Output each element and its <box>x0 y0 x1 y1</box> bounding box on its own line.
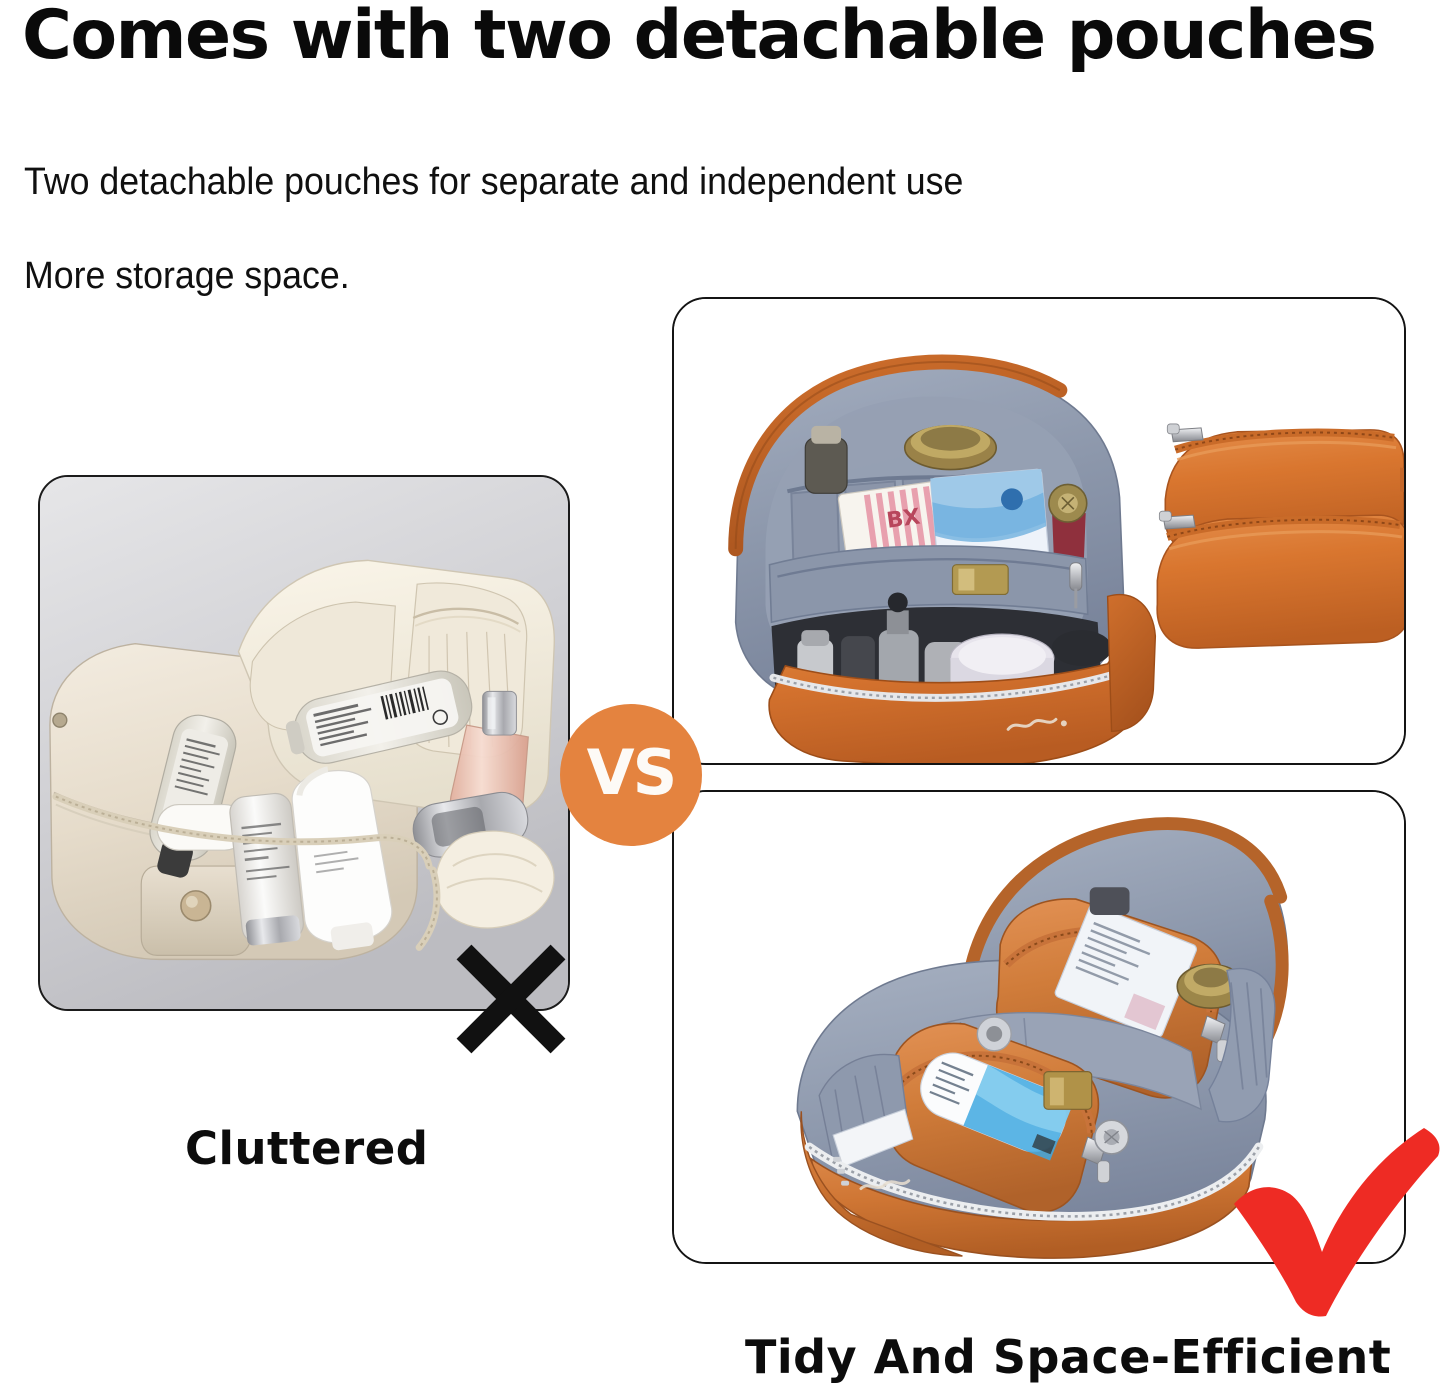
cluttered-bag-illustration <box>40 477 568 1009</box>
subtitle-line-2: More storage space. <box>24 254 350 298</box>
svg-text:BX: BX <box>885 504 922 533</box>
tidy-bag-illustration <box>674 792 1404 1262</box>
left-caption: Cluttered <box>185 1122 428 1175</box>
tidy-bag-panel <box>672 790 1406 1264</box>
vs-label: VS <box>587 742 676 804</box>
page-title: Comes with two detachable pouches <box>22 0 1432 74</box>
right-caption: Tidy And Space-Efficient <box>745 1330 1391 1384</box>
organized-bag-illustration: BX <box>674 299 1404 763</box>
vs-badge: VS <box>560 704 702 846</box>
cluttered-bag-photo <box>38 475 570 1011</box>
infographic-root: Comes with two detachable pouches Two de… <box>0 0 1445 1391</box>
organized-bag-with-pouches-panel: BX <box>672 297 1406 765</box>
subtitle-line-1: Two detachable pouches for separate and … <box>24 160 963 204</box>
